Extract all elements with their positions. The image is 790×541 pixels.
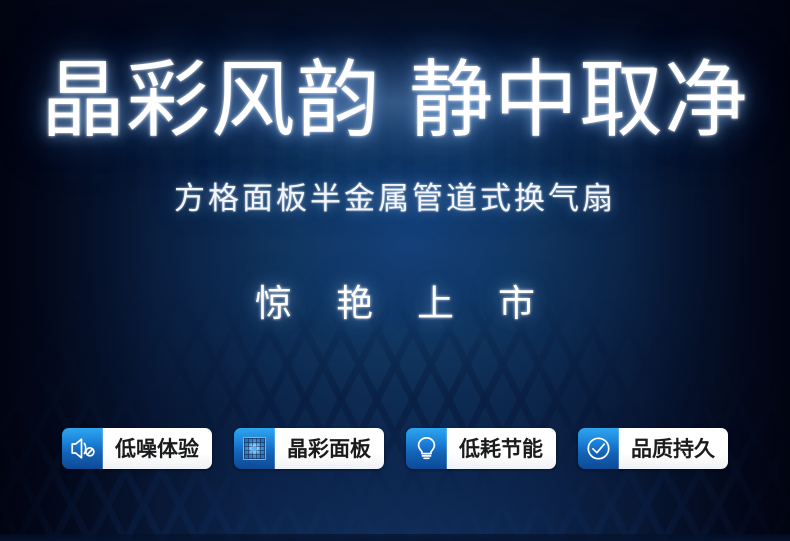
speaker-mute-icon	[62, 428, 103, 469]
grid-panel-icon	[234, 428, 275, 469]
feature-badge-label: 低耗节能	[447, 428, 556, 469]
main-title-part-1: 晶彩风韵	[41, 51, 381, 149]
product-banner: 晶彩风韵静中取净 方格面板半金属管道式换气扇 惊艳上市 低噪体验	[0, 0, 790, 541]
feature-badge-durable-quality[interactable]: 品质持久	[578, 428, 728, 469]
feature-badge-label: 品质持久	[619, 428, 728, 469]
feature-badge-list: 低噪体验 晶彩面板 低耗节能	[0, 428, 790, 469]
page-title: 晶彩风韵静中取净	[0, 52, 790, 148]
product-subtitle: 方格面板半金属管道式换气扇	[0, 178, 790, 220]
feature-badge-label: 晶彩面板	[275, 428, 384, 469]
feature-badge-energy-saving[interactable]: 低耗节能	[406, 428, 556, 469]
feature-badge-crystal-panel[interactable]: 晶彩面板	[234, 428, 384, 469]
main-title-part-2: 静中取净	[409, 51, 749, 149]
lightbulb-icon	[406, 428, 447, 469]
check-circle-icon	[578, 428, 619, 469]
feature-badge-label: 低噪体验	[103, 428, 212, 469]
feature-badge-low-noise[interactable]: 低噪体验	[62, 428, 212, 469]
launch-tagline: 惊艳上市	[0, 278, 790, 330]
